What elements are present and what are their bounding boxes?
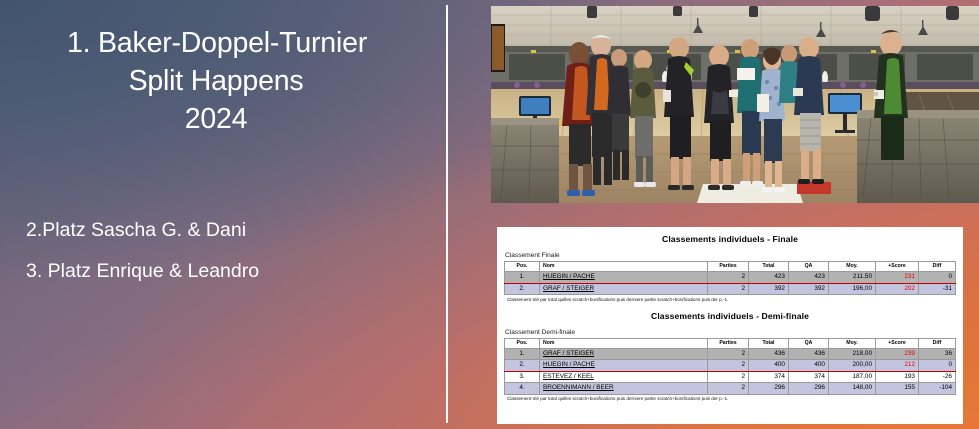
cell-moy: 200,00 xyxy=(829,360,876,372)
col-nom: Nom xyxy=(540,338,708,348)
title-line-2: Split Happens xyxy=(14,62,418,100)
cell-moy: 211,50 xyxy=(829,272,876,284)
team-link[interactable]: ESTEVEZ / KEEL xyxy=(543,373,594,380)
col-parties: Parties xyxy=(708,338,749,348)
table-row: 1. GRAF / STEIGER 2 436 436 218,00 239 3… xyxy=(505,348,956,360)
col-total: Total xyxy=(749,338,789,348)
placement-third: 3. Platz Enrique & Leandro xyxy=(26,251,436,292)
cell-diff: 0 xyxy=(919,272,956,284)
col-total: Total xyxy=(749,262,789,272)
cell-nom[interactable]: GRAF / STEIGER xyxy=(540,283,708,295)
team-link[interactable]: HUEGIN / PACHE xyxy=(543,273,595,280)
left-text-column: 1. Baker-Doppel-Turnier Split Happens 20… xyxy=(0,0,446,429)
slide-title: 1. Baker-Doppel-Turnier Split Happens 20… xyxy=(14,24,418,138)
demifinale-footnote: Classement trié par total quilles scratc… xyxy=(507,396,956,401)
cell-parties: 2 xyxy=(708,371,749,383)
cell-pos: 3. xyxy=(505,371,540,383)
right-media-column: Classements individuels - Finale Classem… xyxy=(455,0,979,429)
results-panel: Classements individuels - Finale Classem… xyxy=(497,227,963,424)
cell-nom[interactable]: ESTEVEZ / KEEL xyxy=(540,371,708,383)
group-photo xyxy=(491,6,979,203)
cell-diff: -104 xyxy=(919,383,956,395)
table-header-row: Pos. Nom Parties Total QA Moy. +Score Di… xyxy=(505,338,956,348)
cell-qa: 296 xyxy=(789,383,829,395)
cell-diff: -26 xyxy=(919,371,956,383)
col-pos: Pos. xyxy=(505,262,540,272)
cell-qa: 400 xyxy=(789,360,829,372)
placement-second: 2.Platz Sascha G. & Dani xyxy=(26,210,436,251)
finale-results-table: Pos. Nom Parties Total QA Moy. +Score Di… xyxy=(504,261,956,295)
cell-nom[interactable]: GRAF / STEIGER xyxy=(540,348,708,360)
cell-qa: 392 xyxy=(789,283,829,295)
placements-list: 2.Platz Sascha G. & Dani 3. Platz Enriqu… xyxy=(26,210,436,292)
table-row: 3. ESTEVEZ / KEEL 2 374 374 187,00 193 -… xyxy=(505,371,956,383)
col-moy: Moy. xyxy=(829,338,876,348)
cell-score: 231 xyxy=(876,272,919,284)
cell-total: 392 xyxy=(749,283,789,295)
col-score: +Score xyxy=(876,262,919,272)
results-section-finale: Classements individuels - Finale Classem… xyxy=(497,227,963,302)
team-link[interactable]: GRAF / STEIGER xyxy=(543,285,594,292)
col-diff: Diff xyxy=(919,338,956,348)
cell-score: 155 xyxy=(876,383,919,395)
cell-nom[interactable]: BROENNIMANN / BEER xyxy=(540,383,708,395)
cell-total: 400 xyxy=(749,360,789,372)
cell-pos: 2. xyxy=(505,283,540,295)
finale-heading: Classements individuels - Finale xyxy=(504,234,956,244)
cell-score: 193 xyxy=(876,371,919,383)
cell-qa: 374 xyxy=(789,371,829,383)
table-header-row: Pos. Nom Parties Total QA Moy. +Score Di… xyxy=(505,262,956,272)
cell-parties: 2 xyxy=(708,360,749,372)
col-moy: Moy. xyxy=(829,262,876,272)
cell-parties: 2 xyxy=(708,383,749,395)
table-row: 2. HUEGIN / PACHE 2 400 400 200,00 212 0 xyxy=(505,360,956,372)
cell-nom[interactable]: HUEGIN / PACHE xyxy=(540,272,708,284)
cell-score: 212 xyxy=(876,360,919,372)
col-diff: Diff xyxy=(919,262,956,272)
cell-total: 423 xyxy=(749,272,789,284)
cell-diff: 0 xyxy=(919,360,956,372)
demifinale-results-table: Pos. Nom Parties Total QA Moy. +Score Di… xyxy=(504,338,956,395)
col-pos: Pos. xyxy=(505,338,540,348)
cell-diff: 36 xyxy=(919,348,956,360)
cell-total: 436 xyxy=(749,348,789,360)
cell-pos: 2. xyxy=(505,360,540,372)
cell-total: 296 xyxy=(749,383,789,395)
team-link[interactable]: BROENNIMANN / BEER xyxy=(543,384,614,391)
cell-parties: 2 xyxy=(708,348,749,360)
cell-moy: 218,00 xyxy=(829,348,876,360)
cell-pos: 1. xyxy=(505,272,540,284)
cell-qa: 423 xyxy=(789,272,829,284)
col-score: +Score xyxy=(876,338,919,348)
team-link[interactable]: HUEGIN / PACHE xyxy=(543,361,595,368)
cell-moy: 187,00 xyxy=(829,371,876,383)
results-section-demifinale: Classements individuels - Demi-finale Cl… xyxy=(497,302,963,402)
cell-pos: 1. xyxy=(505,348,540,360)
table-row: 4. BROENNIMANN / BEER 2 296 296 148,00 1… xyxy=(505,383,956,395)
cell-diff: -31 xyxy=(919,283,956,295)
finale-subheading: Classement Finale xyxy=(505,252,956,259)
col-qa: QA xyxy=(789,338,829,348)
title-line-1: 1. Baker-Doppel-Turnier xyxy=(16,24,418,62)
col-parties: Parties xyxy=(708,262,749,272)
col-qa: QA xyxy=(789,262,829,272)
cell-parties: 2 xyxy=(708,272,749,284)
cell-score: 202 xyxy=(876,283,919,295)
cell-parties: 2 xyxy=(708,283,749,295)
table-row: 2. GRAF / STEIGER 2 392 392 196,00 202 -… xyxy=(505,283,956,295)
team-link[interactable]: GRAF / STEIGER xyxy=(543,350,594,357)
cell-moy: 148,00 xyxy=(829,383,876,395)
cell-score: 239 xyxy=(876,348,919,360)
demifinale-subheading: Classement Demi-finale xyxy=(505,329,956,336)
table-row: 1. HUEGIN / PACHE 2 423 423 211,50 231 0 xyxy=(505,272,956,284)
cell-moy: 196,00 xyxy=(829,283,876,295)
demifinale-heading: Classements individuels - Demi-finale xyxy=(504,311,956,321)
cell-nom[interactable]: HUEGIN / PACHE xyxy=(540,360,708,372)
title-line-3: 2024 xyxy=(14,100,418,138)
presentation-slide: 1. Baker-Doppel-Turnier Split Happens 20… xyxy=(0,0,979,429)
cell-total: 374 xyxy=(749,371,789,383)
vertical-divider xyxy=(446,5,448,423)
col-nom: Nom xyxy=(540,262,708,272)
cell-pos: 4. xyxy=(505,383,540,395)
cell-qa: 436 xyxy=(789,348,829,360)
